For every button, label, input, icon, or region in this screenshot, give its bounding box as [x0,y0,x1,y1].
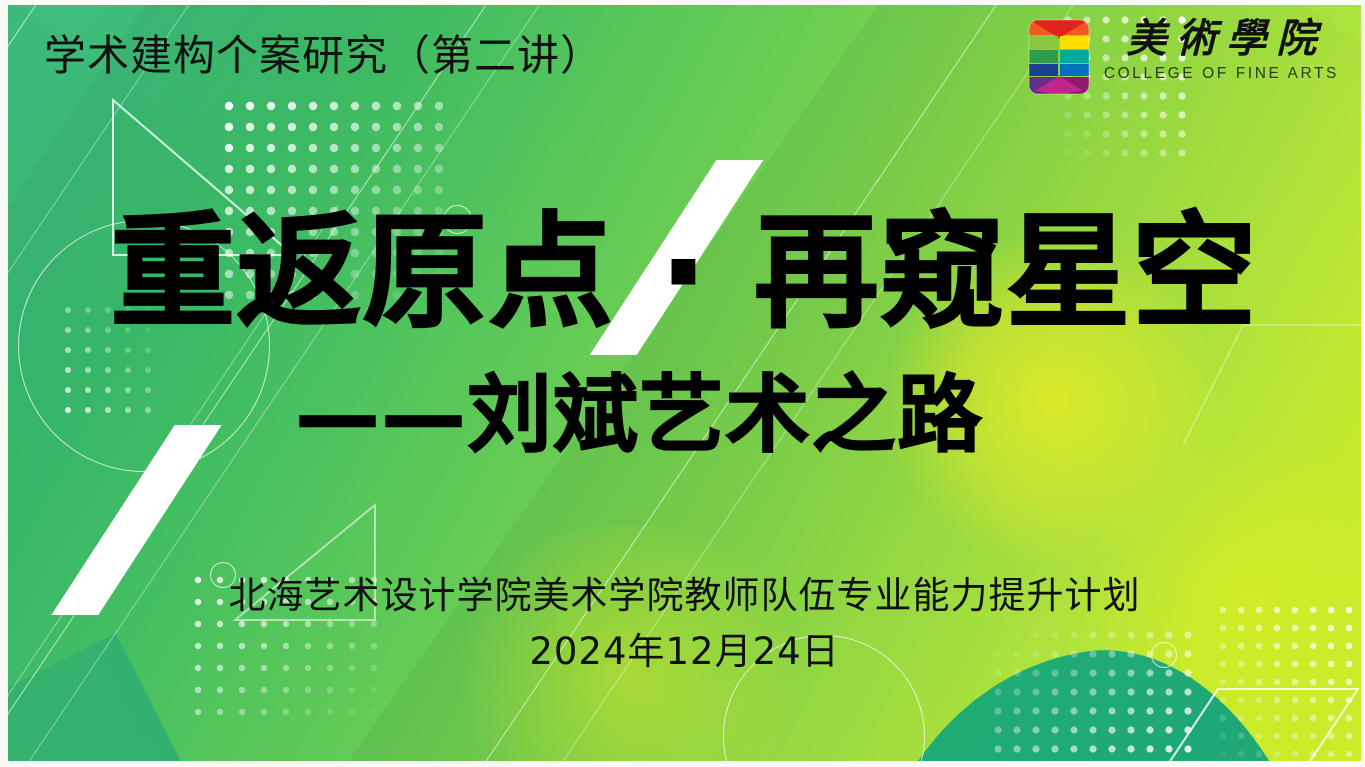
slide-main-title: 重返原点 · 再窥星空 [8,211,1361,335]
lecture-series-kicker: 学术建构个案研究（第二讲） [44,33,603,79]
slide-footer: 北海艺术设计学院美术学院教师队伍专业能力提升计划 2024年12月24日 [8,575,1361,673]
college-logo: 美術學院 COLLEGE OF FINE ARTS [1028,19,1339,95]
college-logo-text: 美術學院 COLLEGE OF FINE ARTS [1104,19,1339,82]
footer-date: 2024年12月24日 [8,631,1361,674]
parallelogram-outline-decoration [1148,677,1361,761]
slide-subtitle: ——刘斌艺术之路 [8,373,1361,457]
college-name-cn: 美術學院 [1116,19,1326,59]
slide-canvas: 学术建构个案研究（第二讲） [8,5,1361,761]
college-name-en: COLLEGE OF FINE ARTS [1104,66,1339,82]
presentation-slide: 学术建构个案研究（第二讲） [0,0,1365,767]
footer-program-name: 北海艺术设计学院美术学院教师队伍专业能力提升计划 [8,575,1361,618]
college-crest-icon [1028,19,1090,95]
